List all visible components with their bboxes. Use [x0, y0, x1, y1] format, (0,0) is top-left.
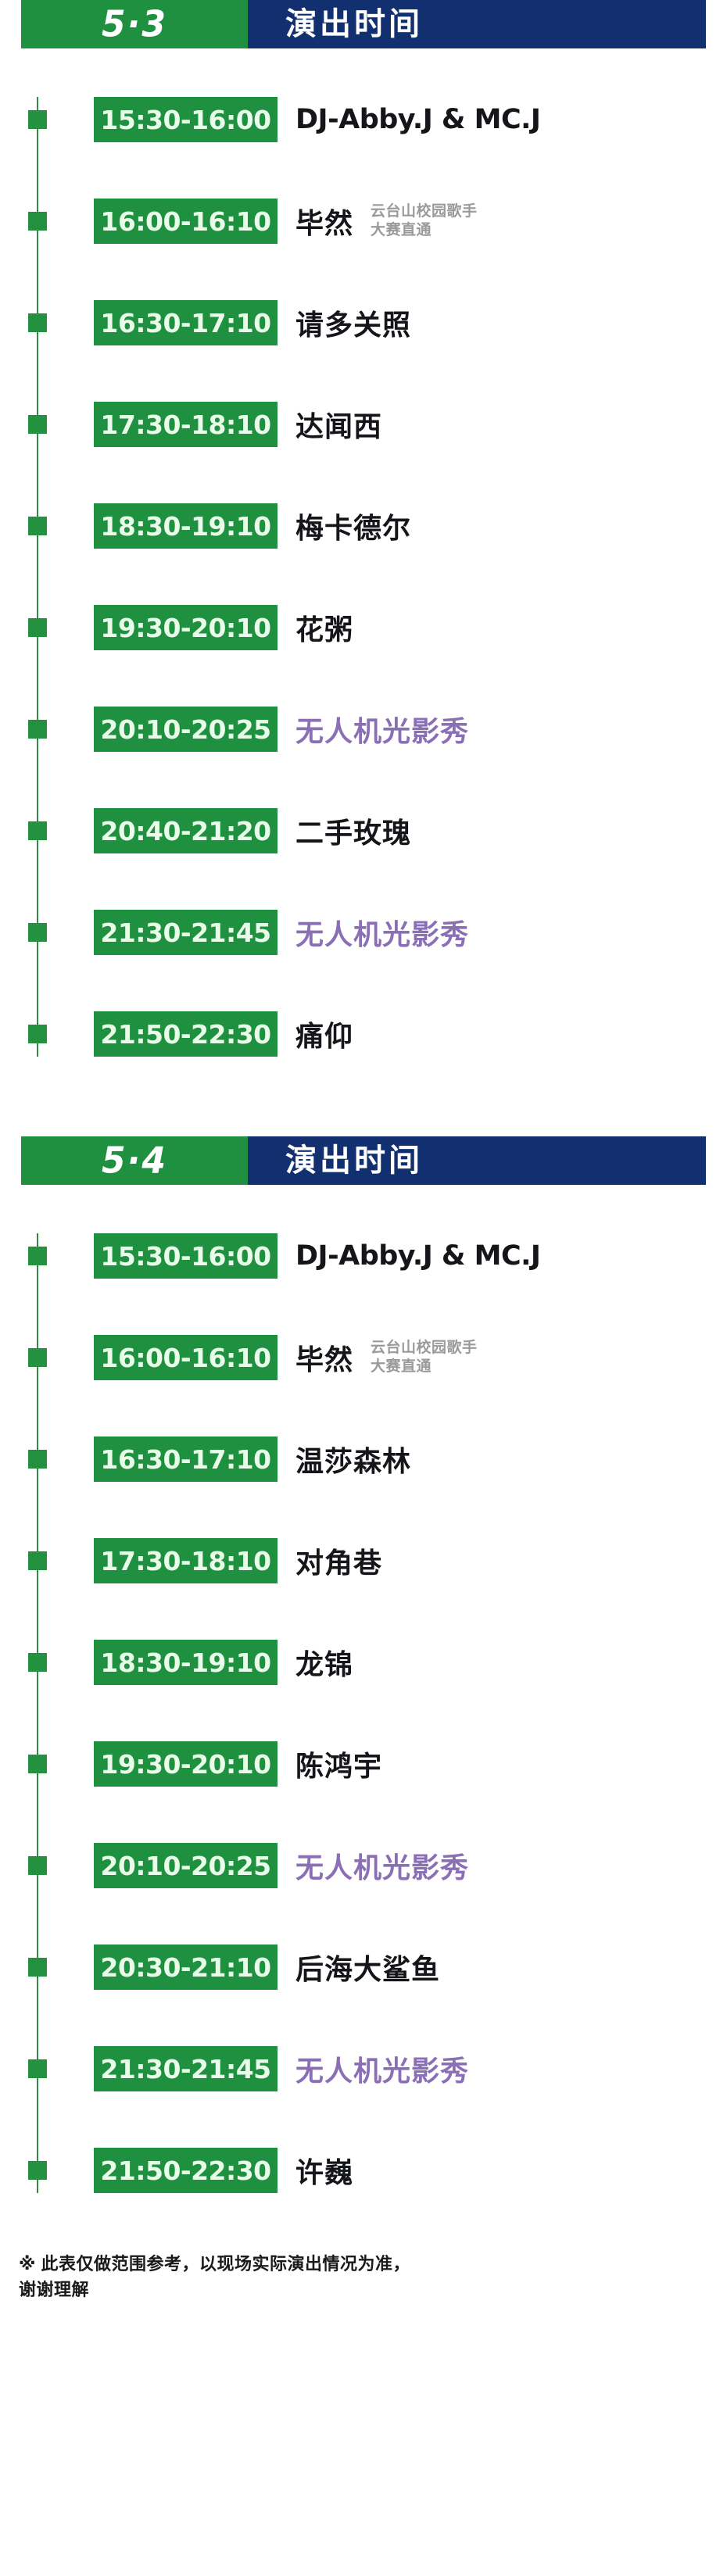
timeline-bullet-icon: [28, 821, 47, 840]
artist-block: 后海大鲨鱼: [295, 1947, 711, 1987]
time-chip: 17:30-18:10: [94, 402, 278, 447]
artist-name: 梅卡德尔: [295, 506, 411, 546]
schedule-row: 16:00-16:10毕然云台山校园歌手 大赛直通: [0, 1307, 727, 1408]
schedule-row: 15:30-16:00DJ-Abby.J & MC.J: [0, 1205, 727, 1307]
artist-block: DJ-Abby.J & MC.J: [295, 104, 711, 135]
timeline-bullet-icon: [28, 1551, 47, 1570]
time-chip: 20:10-20:25: [94, 1843, 278, 1888]
page-title: 演出时间: [285, 1145, 423, 1176]
time-chip: 17:30-18:10: [94, 1538, 278, 1583]
time-label: 16:30-17:10: [100, 308, 270, 338]
time-label: 16:00-16:10: [100, 206, 270, 237]
artist-block: 达闻西: [295, 404, 711, 445]
artist-block: 龙锦: [295, 1642, 711, 1683]
day-section: 5·4演出时间15:30-16:00DJ-Abby.J & MC.J16:00-…: [0, 1136, 727, 2224]
time-label: 21:30-21:45: [100, 918, 270, 948]
artist-name: DJ-Abby.J & MC.J: [295, 104, 540, 135]
artist-block: 无人机光影秀: [295, 912, 711, 953]
time-chip: 15:30-16:00: [94, 97, 278, 142]
schedule-row: 19:30-20:10陈鸿宇: [0, 1713, 727, 1815]
time-chip: 21:30-21:45: [94, 2046, 278, 2091]
schedule-row: 16:30-17:10请多关照: [0, 272, 727, 374]
time-label: 19:30-20:10: [100, 1749, 270, 1780]
timeline-bullet-icon: [28, 720, 47, 739]
timeline-bullet-icon: [28, 923, 47, 942]
day-header-banner: 5·4演出时间: [21, 1136, 706, 1185]
schedule-row: 15:30-16:00DJ-Abby.J & MC.J: [0, 69, 727, 170]
schedule-row: 21:30-21:45无人机光影秀: [0, 882, 727, 983]
artist-name: 达闻西: [295, 404, 382, 445]
time-label: 21:50-22:30: [100, 1019, 270, 1050]
time-chip: 18:30-19:10: [94, 1640, 278, 1685]
timeline-bullet-icon: [28, 618, 47, 637]
header-title-block: 演出时间: [248, 0, 706, 48]
time-label: 17:30-18:10: [100, 1546, 270, 1576]
date-label: 5·3: [102, 3, 167, 45]
header-title-block: 演出时间: [248, 1136, 706, 1185]
schedule-row: 16:30-17:10温莎森林: [0, 1408, 727, 1510]
schedule-row: 17:30-18:10达闻西: [0, 374, 727, 475]
schedule-list: 15:30-16:00DJ-Abby.J & MC.J16:00-16:10毕然…: [0, 69, 727, 1088]
time-label: 18:30-19:10: [100, 1648, 270, 1678]
artist-block: DJ-Abby.J & MC.J: [295, 1240, 711, 1272]
artist-name: 后海大鲨鱼: [295, 1947, 440, 1987]
timeline-bullet-icon: [28, 415, 47, 434]
day-header-banner: 5·3演出时间: [21, 0, 706, 48]
time-chip: 18:30-19:10: [94, 503, 278, 549]
schedule-row: 21:50-22:30许巍: [0, 2120, 727, 2221]
timeline-bullet-icon: [28, 110, 47, 129]
timeline-bullet-icon: [28, 517, 47, 535]
artist-block: 请多关照: [295, 302, 711, 343]
artist-block: 许巍: [295, 2150, 711, 2191]
artist-name: 花粥: [295, 607, 353, 648]
schedule-row: 20:30-21:10后海大鲨鱼: [0, 1916, 727, 2018]
artist-name: 请多关照: [295, 302, 411, 343]
artist-name: 无人机光影秀: [295, 1845, 469, 1886]
schedule-row: 19:30-20:10花粥: [0, 577, 727, 678]
performance-schedule-page: 5·3演出时间15:30-16:00DJ-Abby.J & MC.J16:00-…: [0, 0, 727, 2576]
artist-block: 无人机光影秀: [295, 1845, 711, 1886]
artist-block: 无人机光影秀: [295, 2048, 711, 2089]
schedule-row: 18:30-19:10梅卡德尔: [0, 475, 727, 577]
timeline-bullet-icon: [28, 313, 47, 332]
time-chip: 19:30-20:10: [94, 605, 278, 650]
page-title: 演出时间: [285, 9, 423, 40]
row-note: 云台山校园歌手 大赛直通: [371, 1339, 478, 1377]
time-label: 16:30-17:10: [100, 1444, 270, 1475]
timeline-bullet-icon: [28, 1653, 47, 1672]
artist-block: 温莎森林: [295, 1439, 711, 1479]
time-chip: 20:30-21:10: [94, 1945, 278, 1990]
artist-block: 痛仰: [295, 1014, 711, 1054]
time-chip: 21:50-22:30: [94, 2148, 278, 2193]
schedule-row: 20:10-20:25无人机光影秀: [0, 678, 727, 780]
schedule-row: 18:30-19:10龙锦: [0, 1612, 727, 1713]
timeline-bullet-icon: [28, 1450, 47, 1469]
timeline-bullet-icon: [28, 1025, 47, 1043]
timeline-bullet-icon: [28, 1247, 47, 1265]
schedule-sections: 5·3演出时间15:30-16:00DJ-Abby.J & MC.J16:00-…: [0, 0, 727, 2224]
timeline-bullet-icon: [28, 2161, 47, 2180]
time-chip: 16:30-17:10: [94, 300, 278, 345]
artist-block: 毕然云台山校园歌手 大赛直通: [295, 1337, 711, 1378]
time-label: 20:30-21:10: [100, 1952, 270, 1983]
artist-name: 龙锦: [295, 1642, 353, 1683]
date-label: 5·4: [102, 1140, 167, 1182]
timeline-bullet-icon: [28, 212, 47, 231]
schedule-row: 16:00-16:10毕然云台山校园歌手 大赛直通: [0, 170, 727, 272]
artist-block: 梅卡德尔: [295, 506, 711, 546]
time-label: 15:30-16:00: [100, 1241, 270, 1272]
time-label: 19:30-20:10: [100, 613, 270, 643]
day-section: 5·3演出时间15:30-16:00DJ-Abby.J & MC.J16:00-…: [0, 0, 727, 1088]
timeline-bullet-icon: [28, 1348, 47, 1367]
time-label: 18:30-19:10: [100, 511, 270, 542]
time-label: 20:40-21:20: [100, 816, 270, 846]
artist-name: 二手玫瑰: [295, 810, 411, 851]
time-chip: 15:30-16:00: [94, 1233, 278, 1279]
time-chip: 21:50-22:30: [94, 1011, 278, 1057]
artist-name: 毕然: [295, 201, 353, 241]
artist-name: 无人机光影秀: [295, 709, 469, 750]
artist-block: 花粥: [295, 607, 711, 648]
artist-block: 对角巷: [295, 1540, 711, 1581]
time-chip: 19:30-20:10: [94, 1741, 278, 1787]
time-label: 17:30-18:10: [100, 410, 270, 440]
schedule-list: 15:30-16:00DJ-Abby.J & MC.J16:00-16:10毕然…: [0, 1205, 727, 2224]
date-badge: 5·4: [21, 1136, 248, 1185]
artist-name: DJ-Abby.J & MC.J: [295, 1240, 540, 1272]
time-chip: 16:00-16:10: [94, 199, 278, 244]
time-chip: 16:00-16:10: [94, 1335, 278, 1380]
time-label: 21:50-22:30: [100, 2156, 270, 2186]
artist-block: 无人机光影秀: [295, 709, 711, 750]
row-note: 云台山校园歌手 大赛直通: [371, 202, 478, 241]
disclaimer-note: ※ 此表仅做范围参考，以现场实际演出情况为准， 谢谢理解: [19, 2251, 706, 2302]
schedule-row: 21:50-22:30痛仰: [0, 983, 727, 1085]
artist-block: 毕然云台山校园歌手 大赛直通: [295, 201, 711, 241]
artist-name: 无人机光影秀: [295, 912, 469, 953]
time-label: 20:10-20:25: [100, 1851, 270, 1881]
schedule-row: 20:10-20:25无人机光影秀: [0, 1815, 727, 1916]
artist-block: 二手玫瑰: [295, 810, 711, 851]
time-label: 16:00-16:10: [100, 1343, 270, 1373]
timeline-bullet-icon: [28, 1958, 47, 1977]
artist-name: 无人机光影秀: [295, 2048, 469, 2089]
time-label: 20:10-20:25: [100, 714, 270, 745]
artist-name: 对角巷: [295, 1540, 382, 1581]
time-label: 21:30-21:45: [100, 2054, 270, 2084]
artist-block: 陈鸿宇: [295, 1744, 711, 1784]
time-chip: 16:30-17:10: [94, 1436, 278, 1482]
timeline-bullet-icon: [28, 1755, 47, 1773]
time-label: 15:30-16:00: [100, 105, 270, 135]
time-chip: 21:30-21:45: [94, 910, 278, 955]
time-chip: 20:10-20:25: [94, 707, 278, 752]
date-badge: 5·3: [21, 0, 248, 48]
schedule-row: 20:40-21:20二手玫瑰: [0, 780, 727, 882]
artist-name: 许巍: [295, 2150, 353, 2191]
artist-name: 痛仰: [295, 1014, 353, 1054]
artist-name: 毕然: [295, 1337, 353, 1378]
timeline-bullet-icon: [28, 1856, 47, 1875]
schedule-row: 17:30-18:10对角巷: [0, 1510, 727, 1612]
artist-name: 陈鸿宇: [295, 1744, 382, 1784]
timeline-bullet-icon: [28, 2059, 47, 2078]
section-spacer: [0, 1088, 727, 1136]
time-chip: 20:40-21:20: [94, 808, 278, 853]
artist-name: 温莎森林: [295, 1439, 411, 1479]
schedule-row: 21:30-21:45无人机光影秀: [0, 2018, 727, 2120]
